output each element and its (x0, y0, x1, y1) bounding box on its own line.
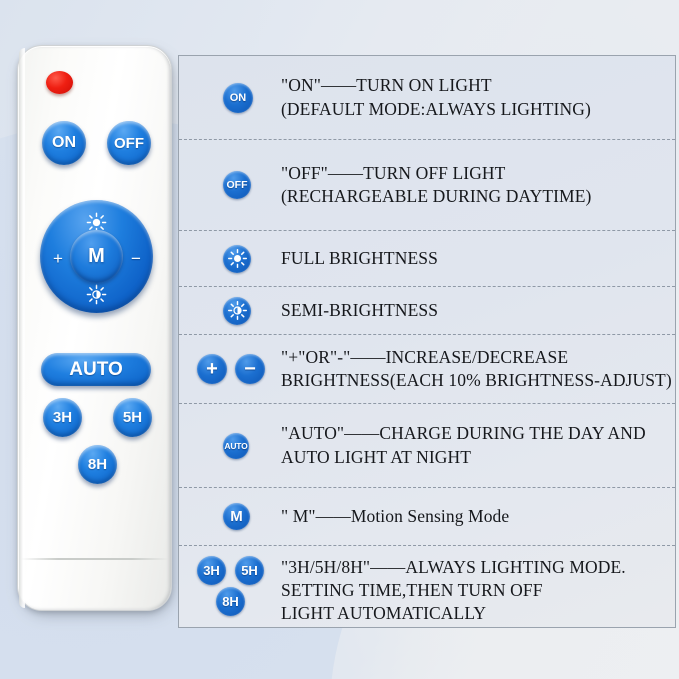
plus-badge-icon: + (197, 354, 227, 384)
legend-row-full-brightness-text: FULL BRIGHTNESS (281, 247, 675, 270)
remote-left-edge-highlight (19, 48, 25, 608)
legend-line: LIGHT AUTOMATICALLY (281, 602, 675, 625)
legend-row-auto: AUTO "AUTO"——CHARGE DURING THE DAY AND A… (179, 403, 675, 487)
legend-row-timer-text: "3H/5H/8H"——ALWAYS LIGHTING MODE. SETTIN… (281, 556, 675, 625)
red-led-indicator (46, 71, 73, 94)
dial-minus-label[interactable]: − (131, 250, 141, 267)
legend-row-on-text: "ON"——TURN ON LIGHT (DEFAULT MODE:ALWAYS… (281, 74, 675, 120)
remote-8h-button[interactable]: 8H (78, 445, 117, 484)
legend-line: SEMI-BRIGHTNESS (281, 299, 675, 322)
legend-row-semi-brightness-icons (223, 297, 281, 325)
remote-off-button[interactable]: OFF (107, 121, 151, 165)
legend-row-off: OFF "OFF"——TURN OFF LIGHT (RECHARGEABLE … (179, 139, 675, 230)
legend-row-on-icons: ON (223, 83, 281, 113)
legend-row-off-text: "OFF"——TURN OFF LIGHT (RECHARGEABLE DURI… (281, 162, 675, 208)
legend-row-full-brightness: FULL BRIGHTNESS (179, 230, 675, 286)
remote-mode-button[interactable]: M (70, 230, 123, 283)
on-badge-icon: ON (223, 83, 253, 113)
legend-line: "ON"——TURN ON LIGHT (281, 74, 675, 97)
legend-line: SETTING TIME,THEN TURN OFF (281, 579, 675, 602)
legend-row-timer-icons: 3H 5H 8H (197, 556, 281, 618)
legend-line: "3H/5H/8H"——ALWAYS LIGHTING MODE. (281, 556, 675, 579)
legend-row-auto-text: "AUTO"——CHARGE DURING THE DAY AND AUTO L… (281, 422, 675, 468)
remote-body (17, 45, 172, 611)
legend-row-auto-icons: AUTO (223, 433, 281, 459)
timer-badge-cluster: 3H 5H 8H (197, 556, 275, 618)
legend-line: (DEFAULT MODE:ALWAYS LIGHTING) (281, 98, 675, 121)
legend-row-motion: M " M"——Motion Sensing Mode (179, 487, 675, 545)
legend-row-full-brightness-icons (223, 245, 281, 273)
remote-5h-button[interactable]: 5H (113, 398, 152, 437)
remote-control: ON OFF + − (17, 45, 177, 615)
legend-line: BRIGHTNESS(EACH 10% BRIGHTNESS-ADJUST) (281, 369, 675, 392)
legend-row-brightness-adjust: + − "+"OR"-"——INCREASE/DECREASE BRIGHTNE… (179, 334, 675, 403)
legend-row-semi-brightness-text: SEMI-BRIGHTNESS (281, 299, 675, 322)
legend-panel: ON "ON"——TURN ON LIGHT (DEFAULT MODE:ALW… (178, 55, 676, 628)
remote-on-button[interactable]: ON (42, 121, 86, 165)
plus-minus-pair: + − (197, 354, 265, 384)
minus-badge-icon: − (235, 354, 265, 384)
legend-line: " M"——Motion Sensing Mode (281, 505, 675, 528)
legend-line: FULL BRIGHTNESS (281, 247, 675, 270)
legend-line: "AUTO"——CHARGE DURING THE DAY AND (281, 422, 675, 445)
remote-3h-button[interactable]: 3H (43, 398, 82, 437)
full-sun-icon (223, 245, 251, 273)
timer-3h-badge-icon: 3H (197, 556, 226, 585)
legend-row-semi-brightness: SEMI-BRIGHTNESS (179, 286, 675, 334)
legend-row-motion-icons: M (223, 503, 281, 530)
timer-5h-badge-icon: 5H (235, 556, 264, 585)
auto-badge-icon: AUTO (223, 433, 249, 459)
remote-auto-button[interactable]: AUTO (41, 353, 151, 386)
product-instruction-image: ON OFF + − (0, 0, 679, 679)
legend-line: "+"OR"-"——INCREASE/DECREASE (281, 346, 675, 369)
m-badge-icon: M (223, 503, 250, 530)
timer-8h-badge-icon: 8H (216, 587, 245, 616)
legend-line: AUTO LIGHT AT NIGHT (281, 446, 675, 469)
half-sun-icon[interactable] (86, 284, 107, 305)
legend-row-motion-text: " M"——Motion Sensing Mode (281, 505, 675, 528)
remote-seam-line (21, 558, 169, 560)
legend-row-off-icons: OFF (223, 171, 281, 199)
legend-row-timer: 3H 5H 8H "3H/5H/8H"——ALWAYS LIGHTING MOD… (179, 545, 675, 627)
legend-row-on: ON "ON"——TURN ON LIGHT (DEFAULT MODE:ALW… (179, 56, 675, 139)
legend-line: "OFF"——TURN OFF LIGHT (281, 162, 675, 185)
legend-row-brightness-adjust-icons: + − (197, 354, 281, 384)
half-sun-icon (223, 297, 251, 325)
remote-dial[interactable]: + − (40, 200, 153, 313)
dial-plus-label[interactable]: + (53, 250, 63, 267)
off-badge-icon: OFF (223, 171, 251, 199)
legend-row-brightness-adjust-text: "+"OR"-"——INCREASE/DECREASE BRIGHTNESS(E… (281, 346, 675, 392)
legend-line: (RECHARGEABLE DURING DAYTIME) (281, 185, 675, 208)
